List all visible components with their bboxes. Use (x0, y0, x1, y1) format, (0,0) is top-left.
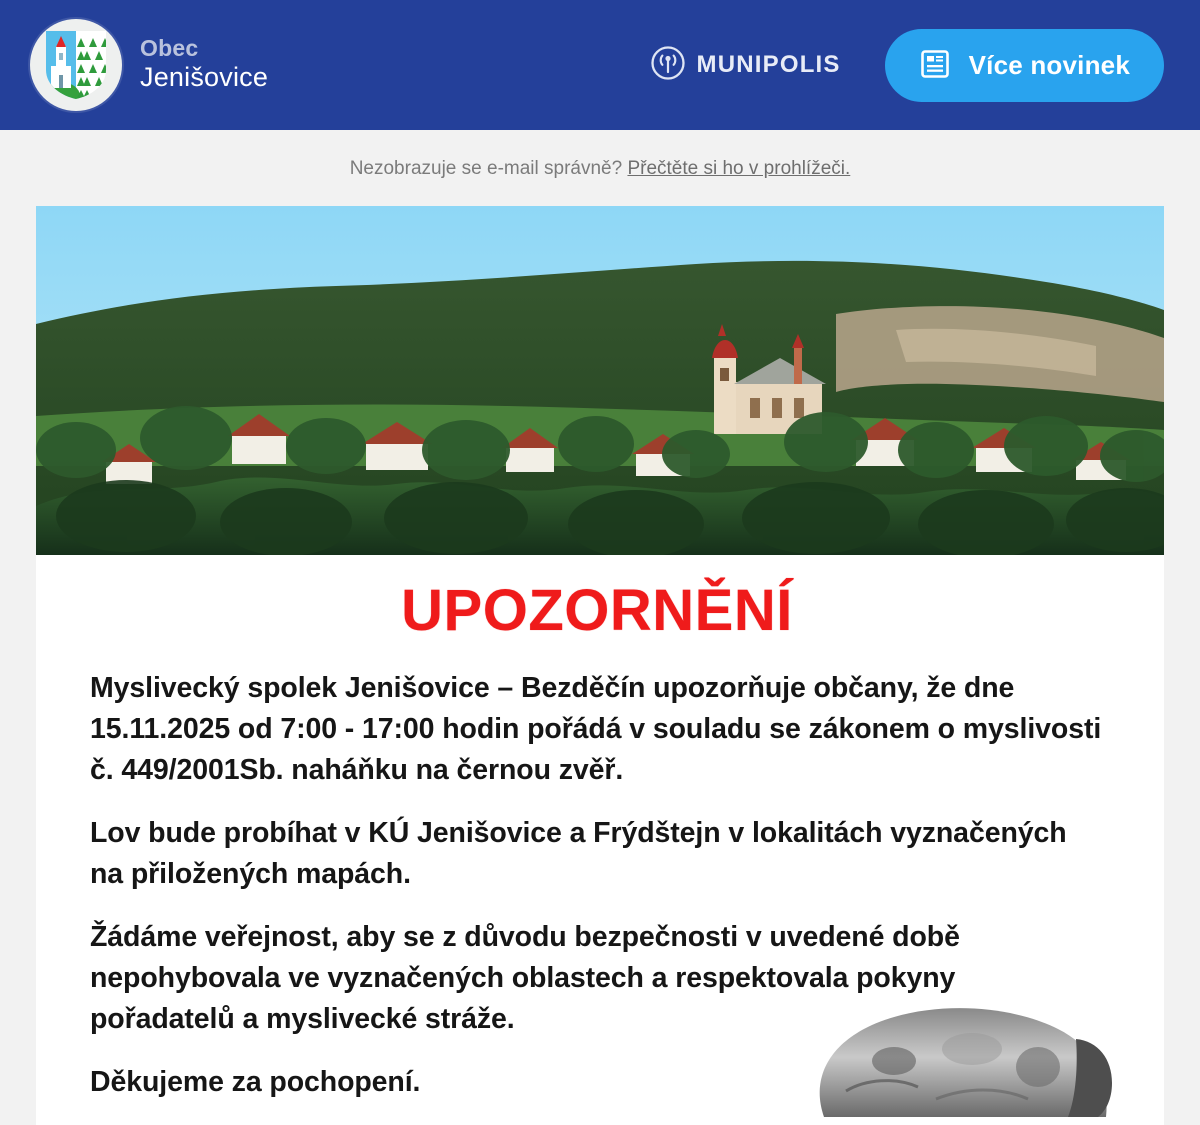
more-news-button[interactable]: Více novinek (885, 29, 1164, 102)
preheader-text: Nezobrazuje se e-mail správně? (350, 158, 622, 179)
brand-block[interactable]: Obec Jenišovice (30, 19, 268, 111)
brand-municipality: Jenišovice (140, 63, 268, 91)
notice-paragraph-1: Myslivecký spolek Jenišovice – Bezděčín … (90, 668, 1104, 791)
munipolis-logo[interactable]: MUNIPOLIS (651, 46, 841, 85)
munipolis-wordmark: MUNIPOLIS (697, 51, 841, 79)
notice-paragraph-2: Lov bude probíhat v KÚ Jenišovice a Frýd… (90, 813, 1104, 895)
notice-body: UPOZORNĚNÍ Myslivecký spolek Jenišovice … (36, 555, 1164, 1103)
notice-paragraph-4: Děkujeme za pochopení. (90, 1062, 1104, 1103)
broadcast-antenna-icon (651, 46, 685, 85)
notice-paragraph-3: Žádáme veřejnost, aby se z důvodu bezpeč… (90, 917, 1104, 1040)
header-right: MUNIPOLIS Více novinek (651, 29, 1165, 102)
preheader-notice: Nezobrazuje se e-mail správně? Přečtěte … (0, 130, 1200, 206)
coat-of-arms-icon (30, 19, 122, 111)
hero-photo-village (36, 206, 1164, 555)
view-in-browser-link[interactable]: Přečtěte si ho v prohlížeči. (627, 158, 850, 179)
brand-text: Obec Jenišovice (140, 37, 268, 94)
email-header: Obec Jenišovice MUNIPOLIS (0, 0, 1200, 130)
notice-title: UPOZORNĚNÍ (90, 581, 1104, 642)
email-content-card: UPOZORNĚNÍ Myslivecký spolek Jenišovice … (36, 206, 1164, 1125)
more-news-label: Více novinek (969, 50, 1130, 81)
newspaper-icon (919, 48, 951, 83)
brand-prefix: Obec (140, 37, 268, 61)
